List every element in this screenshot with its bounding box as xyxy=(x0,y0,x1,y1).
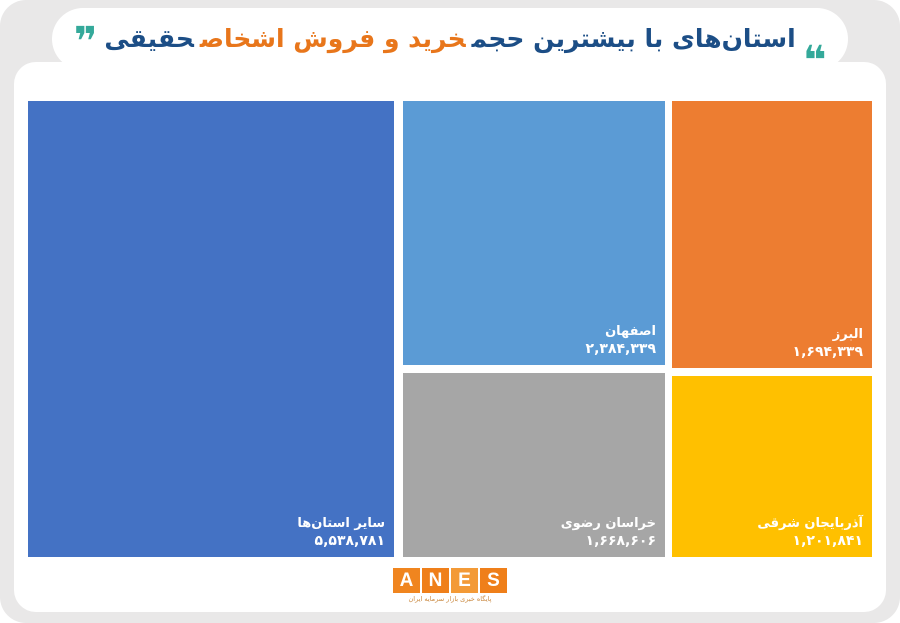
treemap-cell-label: آذربایجان شرقی xyxy=(757,516,863,532)
treemap-cell-value: ۲,۳۸۴,۳۳۹ xyxy=(586,341,656,358)
logo-letter-n: N xyxy=(422,568,449,593)
title-banner: ❞ استان‌های با بیشترین حجمخرید و فروش اش… xyxy=(52,8,848,70)
title-segment-navy-1: استان‌های با بیشترین حجم xyxy=(472,24,796,53)
treemap-cell-azarbayjan-sharghi[interactable]: آذربایجان شرقی ۱,۲۰۱,۸۴۱ xyxy=(672,376,872,557)
treemap-cell-label: سایر استان‌ها xyxy=(297,516,385,532)
sena-logo-letters: S E N A xyxy=(393,568,507,593)
treemap-cell-value: ۱,۲۰۱,۸۴۱ xyxy=(793,533,863,550)
sena-logo: S E N A پایگاه خبری بازار سرمایه ایران xyxy=(14,568,886,603)
treemap-cell-label: البرز xyxy=(833,327,863,343)
quote-close-icon: ❞ xyxy=(805,31,826,53)
treemap-cell-sayer-ostanha[interactable]: سایر استان‌ها ۵,۵۳۸,۷۸۱ xyxy=(28,101,394,557)
treemap-cell-value: ۱,۶۶۸,۶۰۶ xyxy=(586,533,656,550)
treemap-cell-value: ۵,۵۳۸,۷۸۱ xyxy=(315,533,385,550)
treemap-cell-label: اصفهان xyxy=(605,324,656,340)
treemap-cell-khorasan-razavi[interactable]: خراسان رضوی ۱,۶۶۸,۶۰۶ xyxy=(403,373,665,557)
logo-letter-a: A xyxy=(393,568,420,593)
logo-letter-s: S xyxy=(480,568,507,593)
quote-open-icon: ❞ xyxy=(74,31,95,53)
sena-logo-subtitle: پایگاه خبری بازار سرمایه ایران xyxy=(409,595,492,603)
treemap-cell-isfahan[interactable]: اصفهان ۲,۳۸۴,۳۳۹ xyxy=(403,101,665,365)
treemap-chart: سایر استان‌ها ۵,۵۳۸,۷۸۱ اصفهان ۲,۳۸۴,۳۳۹… xyxy=(28,101,872,557)
title-segment-navy-2: حقیقی xyxy=(104,24,194,53)
treemap-cell-alborz[interactable]: البرز ۱,۶۹۴,۳۳۹ xyxy=(672,101,872,368)
logo-letter-e: E xyxy=(451,568,478,593)
treemap-cell-label: خراسان رضوی xyxy=(561,516,656,532)
treemap-cell-value: ۱,۶۹۴,۳۳۹ xyxy=(793,344,863,361)
infographic-root: ❞ استان‌های با بیشترین حجمخرید و فروش اش… xyxy=(0,0,900,623)
title-segment-orange: خرید و فروش اشخاص xyxy=(200,24,466,53)
page-title: استان‌های با بیشترین حجمخرید و فروش اشخا… xyxy=(104,23,795,54)
